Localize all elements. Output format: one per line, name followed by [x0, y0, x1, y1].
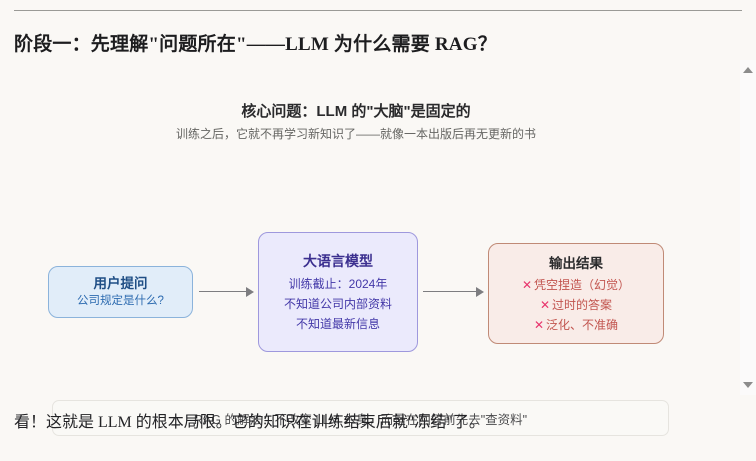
- scrollable-content-region: 核心问题：LLM 的"大脑"是固定的 训练之后，它就不再学习新知识了——就像一本…: [0, 60, 756, 395]
- node-user-question[interactable]: 用户提问 公司规定是什么?: [48, 266, 193, 318]
- node-output-title: 输出结果: [549, 253, 603, 274]
- diagram-title: 核心问题：LLM 的"大脑"是固定的: [0, 100, 712, 121]
- scroll-down-arrow-icon[interactable]: [740, 377, 756, 393]
- page-root: 阶段一：先理解"问题所在"——LLM 为什么需要 RAG？ 核心问题：LLM 的…: [0, 0, 756, 461]
- scroll-up-arrow-icon[interactable]: [740, 62, 756, 78]
- cross-mark-icon: ✕: [534, 318, 544, 332]
- vertical-scrollbar[interactable]: [740, 60, 756, 395]
- node-output-item-hallucination: ✕凭空捏造（幻觉）: [522, 275, 630, 295]
- node-user-question-title: 用户提问: [94, 275, 148, 293]
- llm-limitation-diagram: 核心问题：LLM 的"大脑"是固定的 训练之后，它就不再学习新知识了——就像一本…: [0, 60, 712, 395]
- arrow-user-to-llm-icon: [199, 287, 255, 297]
- node-llm-detail-internal: 不知道公司内部资料: [284, 294, 392, 314]
- node-output-item-inaccurate-label: 泛化、不准确: [546, 318, 618, 332]
- diagram-subtitle: 训练之后，它就不再学习新知识了——就像一本出版后再无更新的书: [0, 125, 712, 142]
- node-output-item-outdated: ✕过时的答案: [540, 295, 612, 315]
- cross-mark-icon: ✕: [540, 298, 550, 312]
- node-user-question-detail: 公司规定是什么?: [77, 293, 164, 310]
- closing-caption: 看！这就是 LLM 的根本局限。它的知识在训练结束后就"冻结"了。: [14, 408, 485, 432]
- node-output-item-outdated-label: 过时的答案: [552, 298, 612, 312]
- node-llm-detail-cutoff: 训练截止：2024年: [289, 274, 388, 294]
- page-title: 阶段一：先理解"问题所在"——LLM 为什么需要 RAG？: [14, 29, 497, 56]
- arrow-llm-to-output-icon: [423, 287, 485, 297]
- node-output-item-hallucination-label: 凭空捏造（幻觉）: [534, 278, 630, 292]
- node-large-language-model[interactable]: 大语言模型 训练截止：2024年 不知道公司内部资料 不知道最新信息: [258, 232, 418, 352]
- top-divider: [14, 10, 742, 11]
- node-llm-detail-latest: 不知道最新信息: [296, 314, 380, 334]
- cross-mark-icon: ✕: [522, 278, 532, 292]
- node-llm-title: 大语言模型: [303, 250, 373, 272]
- node-output-result[interactable]: 输出结果 ✕凭空捏造（幻觉） ✕过时的答案 ✕泛化、不准确: [488, 243, 664, 344]
- node-output-item-inaccurate: ✕泛化、不准确: [534, 315, 618, 335]
